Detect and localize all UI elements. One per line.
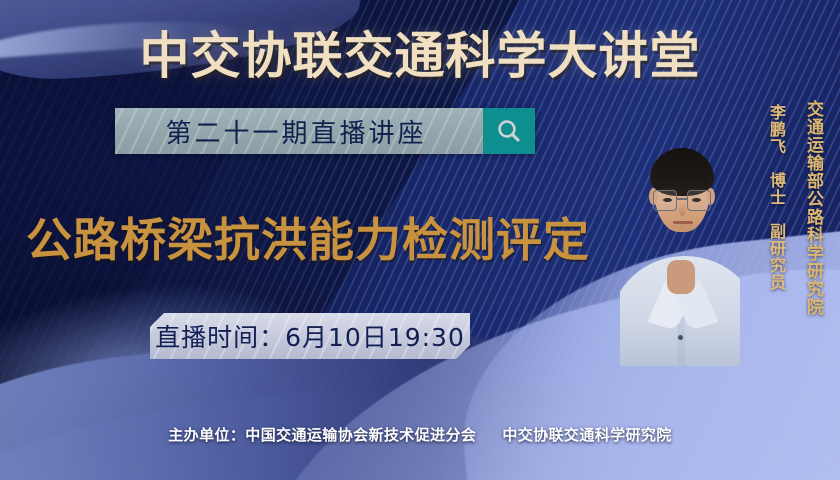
- portrait-button: [678, 335, 683, 340]
- portrait-glasses-bridge: [677, 198, 687, 200]
- live-time-text: 直播时间：6月10日19:30: [155, 318, 465, 354]
- search-icon: [495, 117, 523, 145]
- lecture-title: 公路桥梁抗洪能力检测评定: [26, 204, 590, 270]
- speaker-name-title: 李鹏飞 博士 副研究员: [764, 104, 788, 291]
- episode-search-bar[interactable]: 第二十一期直播讲座: [115, 108, 535, 154]
- portrait-placket: [677, 318, 685, 366]
- speaker-organization: 交通运输部公路科学研究院: [801, 100, 826, 316]
- episode-search-field[interactable]: 第二十一期直播讲座: [115, 108, 483, 154]
- live-lecture-poster: 中交协联交通科学大讲堂 第二十一期直播讲座 公路桥梁抗洪能力检测评定 直播时间：…: [0, 0, 840, 480]
- portrait-neck: [667, 260, 695, 294]
- search-button[interactable]: [483, 108, 535, 154]
- portrait-hair: [650, 148, 714, 196]
- portrait-nose: [679, 204, 686, 216]
- portrait-chin: [666, 222, 700, 236]
- footer-org-1: 中国交通运输协会新技术促进分会: [245, 426, 476, 444]
- footer-org-2: 中交协联交通科学研究院: [502, 426, 671, 444]
- footer-prefix: 主办单位：: [168, 426, 245, 444]
- page-title: 中交协联交通科学大讲堂: [0, 16, 840, 88]
- live-time-badge: 直播时间：6月10日19:30: [150, 313, 470, 359]
- portrait-lens-right: [687, 190, 711, 211]
- portrait-lens-left: [653, 190, 677, 211]
- footer-organizers: 主办单位：中国交通运输协会新技术促进分会中交协联交通科学研究院: [0, 424, 840, 445]
- episode-label: 第二十一期直播讲座: [165, 113, 432, 150]
- speaker-portrait: [620, 118, 740, 366]
